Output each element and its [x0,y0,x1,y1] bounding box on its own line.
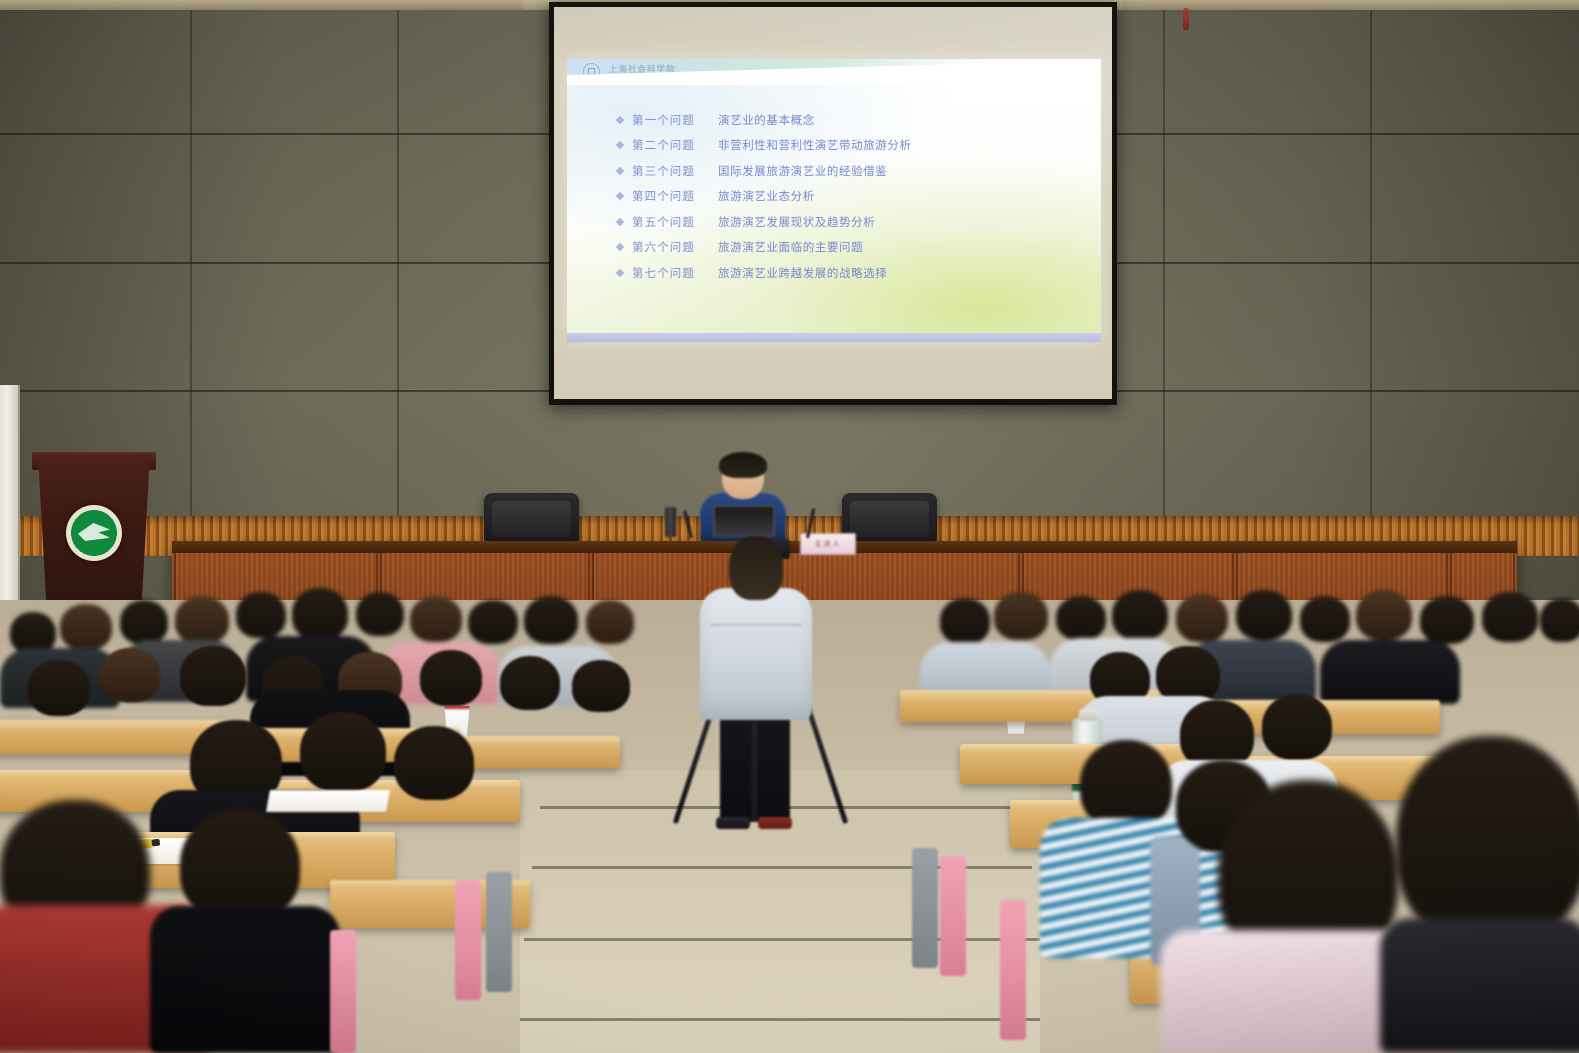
seat-back [330,930,356,1053]
audience-head [120,600,168,644]
wall-board [0,385,20,620]
audience-head [236,592,286,638]
bullet-number: 第一个问题 [632,112,718,128]
audience-head [1056,596,1106,640]
presenter-hair [719,452,767,478]
bullet-diamond-icon [616,243,624,251]
list-item: 第一个问题 演艺业的基本概念 [617,107,1077,133]
projection-screen: 上海社会科学院 SHANGHAI ACADEMY OF SOCIAL SCIEN… [549,2,1117,405]
notebook-page [266,790,390,812]
bullet-diamond-icon [616,192,624,200]
operator-legs [720,712,790,822]
seat-back [455,880,481,1000]
wall-seam [190,0,192,520]
slide-org-name: 上海社会科学院 [609,63,676,75]
audience-head [180,646,246,706]
audience-head [1236,590,1292,640]
audience-head [1176,594,1228,642]
bullet-text: 非营利性和营利性演艺带动旅游分析 [718,137,912,153]
audience-head [356,592,404,636]
camera-operator [696,536,814,826]
audience-torso-foreground [1380,918,1579,1053]
bullet-diamond-icon [616,141,624,149]
wall-seam [397,0,399,520]
seat-back [912,848,938,968]
audience-head [1540,598,1579,642]
audience-torso-foreground [150,906,340,1053]
operator-shoe [758,817,792,829]
wall-seam [1163,0,1165,520]
list-item: 第六个问题 旅游演艺业面临的主要问题 [617,235,1077,261]
presentation-slide: 上海社会科学院 SHANGHAI ACADEMY OF SOCIAL SCIEN… [567,59,1101,342]
audience-head [175,596,229,644]
audience-head [28,660,90,716]
seat-back [1000,900,1026,1040]
audience-head [1112,590,1168,640]
bullet-text: 国际发展旅游演艺业的经验借鉴 [718,163,887,179]
audience-head [420,650,482,706]
audience-head-foreground [1396,736,1579,946]
audience-head [1420,596,1474,644]
audience-head [1300,596,1350,642]
slide-org-name-en: SHANGHAI ACADEMY OF SOCIAL SCIENCES [609,73,715,78]
bullet-number: 第六个问题 [632,239,718,255]
audience-head [1482,592,1538,642]
audience-head [100,648,160,702]
list-item: 第三个问题 国际发展旅游演艺业的经验借鉴 [617,158,1077,184]
seat-back [940,856,966,976]
audience-head [1356,590,1412,640]
bottle-cap [1079,709,1097,721]
stage-chair-left [484,493,579,543]
wall-seam [1370,0,1372,520]
bullet-number: 第五个问题 [632,214,718,230]
bullet-diamond-icon [616,218,624,226]
slide-bullet-list: 第一个问题 演艺业的基本概念 第二个问题 非营利性和营利性演艺带动旅游分析 第三… [617,107,1077,286]
bullet-number: 第三个问题 [632,163,718,179]
name-placard-text: 主讲人 [815,539,842,549]
university-crest-icon [66,505,122,561]
audience-head [1080,740,1172,830]
bullet-text: 旅游演艺发展现状及趋势分析 [718,214,875,230]
audience-head [1262,694,1332,760]
operator-jacket [700,588,812,720]
bullet-text: 演艺业的基本概念 [718,112,815,128]
audience-head [586,600,634,644]
audience-head [410,596,462,642]
audience-head [300,712,386,792]
bullet-diamond-icon [616,116,624,124]
audience-head [994,592,1048,640]
bullet-number: 第四个问题 [632,188,718,204]
slide-footer-bar [567,333,1101,342]
list-item: 第五个问题 旅游演艺发展现状及趋势分析 [617,209,1077,235]
audience-head [524,596,578,644]
institution-logo-icon [583,63,600,80]
list-item: 第七个问题 旅游演艺业跨越发展的战略选择 [617,260,1077,286]
audience-head [292,588,348,640]
bullet-text: 旅游演艺业态分析 [718,188,815,204]
bullet-text: 旅游演艺业面临的主要问题 [718,239,863,255]
audience-head [468,600,518,644]
audience-head [60,604,112,650]
audience-head [500,656,560,710]
audience-head [394,726,474,800]
audience-head [940,598,990,644]
bullet-number: 第七个问题 [632,265,718,281]
stage-chair-right [842,493,937,543]
bullet-diamond-icon [616,269,624,277]
bullet-diamond-icon [616,167,624,175]
thermos-icon [665,507,676,537]
operator-shoe [716,817,750,829]
operator-hair [729,536,783,600]
bullet-text: 旅游演艺业跨越发展的战略选择 [718,265,887,281]
wall-marker-icon [1183,8,1189,30]
laptop-icon [713,505,775,537]
bullet-number: 第二个问题 [632,137,718,153]
audience-torso [1320,640,1460,704]
list-item: 第四个问题 旅游演艺业态分析 [617,184,1077,210]
list-item: 第二个问题 非营利性和营利性演艺带动旅游分析 [617,133,1077,159]
lecture-hall-photo: 上海社会科学院 SHANGHAI ACADEMY OF SOCIAL SCIEN… [0,0,1579,1053]
slide-header-banner: 上海社会科学院 SHANGHAI ACADEMY OF SOCIAL SCIEN… [567,59,1101,85]
seat-back [486,872,512,992]
step-nosing [520,1018,1040,1021]
audience-head [572,660,630,712]
